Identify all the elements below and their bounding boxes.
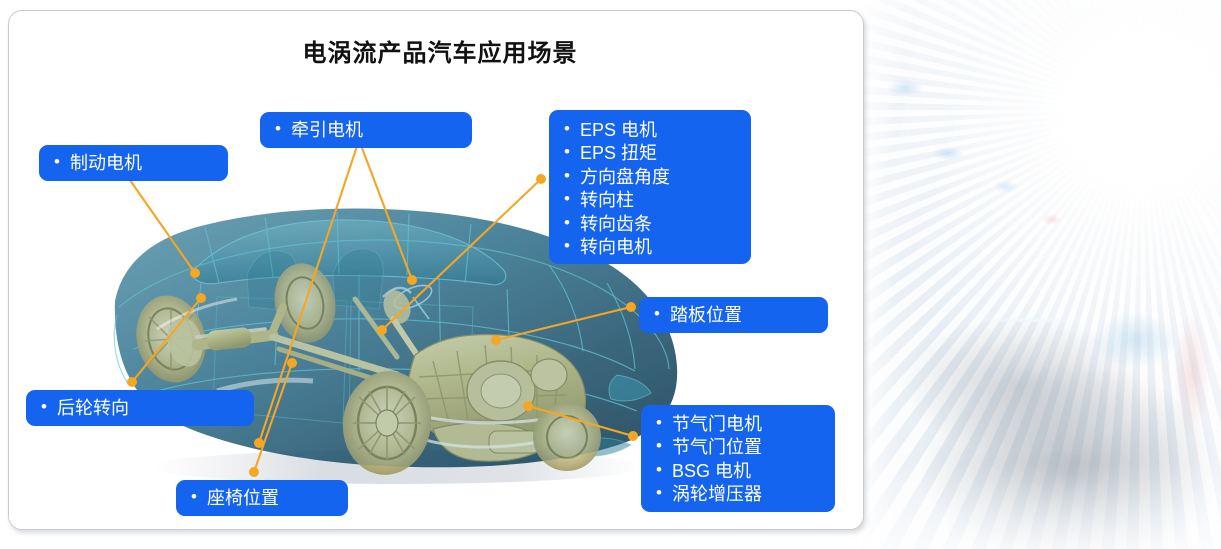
slide-canvas: 电涡流产品汽车应用场景 bbox=[0, 0, 1221, 549]
callout-item: EPS 电机 bbox=[563, 119, 737, 142]
callout-item: 节气门位置 bbox=[655, 436, 821, 459]
background-edge-fade bbox=[862, 0, 1221, 549]
callout-item: 转向电机 bbox=[563, 236, 737, 259]
throttle-group-callout[interactable]: 节气门电机 节气门位置 BSG 电机 涡轮增压器 bbox=[641, 405, 835, 512]
callout-item: BSG 电机 bbox=[655, 460, 821, 483]
content-panel: 电涡流产品汽车应用场景 bbox=[8, 10, 864, 530]
brake-motor-callout[interactable]: 制动电机 bbox=[39, 145, 228, 181]
callout-list: EPS 电机 EPS 扭矩 方向盘角度 转向柱 转向齿条 转向电机 bbox=[563, 119, 737, 259]
callout-item: 转向柱 bbox=[563, 189, 737, 212]
callout-item: 牵引电机 bbox=[274, 119, 458, 142]
eps-steering-callout[interactable]: EPS 电机 EPS 扭矩 方向盘角度 转向柱 转向齿条 转向电机 bbox=[549, 110, 751, 264]
callout-list: 后轮转向 bbox=[40, 397, 240, 420]
callout-item: 方向盘角度 bbox=[563, 166, 737, 189]
callout-list: 座椅位置 bbox=[190, 487, 334, 510]
callout-list: 节气门电机 节气门位置 BSG 电机 涡轮增压器 bbox=[655, 413, 821, 507]
traction-motor-callout[interactable]: 牵引电机 bbox=[260, 112, 472, 148]
callout-list: 牵引电机 bbox=[274, 119, 458, 142]
callout-item: 踏板位置 bbox=[653, 304, 814, 327]
callout-list: 踏板位置 bbox=[653, 304, 814, 327]
callout-item: 制动电机 bbox=[53, 152, 214, 175]
background-photo bbox=[862, 0, 1221, 549]
page-title: 电涡流产品汽车应用场景 bbox=[9, 33, 863, 68]
callout-item: 节气门电机 bbox=[655, 413, 821, 436]
callout-item: 涡轮增压器 bbox=[655, 483, 821, 506]
callout-item: 后轮转向 bbox=[40, 397, 240, 420]
seat-position-callout[interactable]: 座椅位置 bbox=[176, 480, 348, 516]
callout-item: EPS 扭矩 bbox=[563, 142, 737, 165]
callout-list: 制动电机 bbox=[53, 152, 214, 175]
callout-item: 座椅位置 bbox=[190, 487, 334, 510]
callout-item: 转向齿条 bbox=[563, 213, 737, 236]
rear-wheel-steering-callout[interactable]: 后轮转向 bbox=[26, 390, 254, 426]
pedal-position-callout[interactable]: 踏板位置 bbox=[639, 297, 828, 333]
